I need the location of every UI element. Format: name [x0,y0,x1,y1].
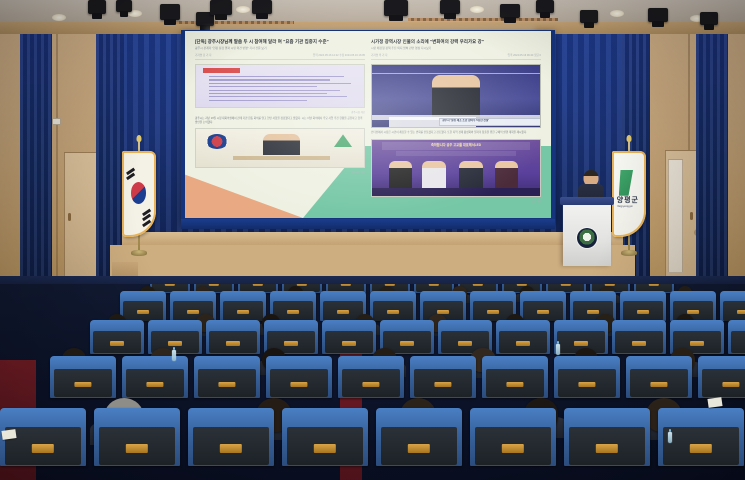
flag-finial [627,135,632,142]
video-top-line [372,73,540,74]
stage-light [88,0,106,14]
korean-flag-icon [206,134,228,149]
seat-number-plate [690,341,704,346]
auditorium-seat[interactable] [410,356,476,398]
seat-number-plate [226,341,240,346]
lectern [563,204,611,266]
award-photo-caption: 뉴스 제공 [371,199,541,203]
city-emblem-icon [577,228,597,248]
stage-light [440,0,460,14]
south-korea-national-flag [118,140,160,252]
auditorium-seat[interactable] [50,356,116,398]
seat-number-plate [400,341,414,346]
downlight [236,6,250,13]
projection-screen: [단독] 광주시장님께 말씀 두 시 참여해 달라 며 "요즘 기관 집중지 수… [185,31,551,218]
seat-number-plate [690,444,712,452]
article-byline: 기자명 김 기 자 [195,53,211,57]
article-body: 광주시는 지난 16일 시청 대회의실에서 관계 기관 합동 회의를 열고 현안… [195,117,365,124]
auditorium-seat[interactable] [338,356,404,398]
auditorium-seat[interactable] [122,356,188,398]
lighting-truss [176,21,294,24]
seat-number-plate [632,341,646,346]
curtain-panel [696,34,728,282]
auditorium-seat[interactable] [564,408,650,466]
seat-number-plate [596,444,618,452]
seat-number-plate [434,382,451,388]
auditorium-seat[interactable] [554,356,620,398]
water-bottle[interactable] [668,432,672,443]
stage-light [116,0,132,12]
water-bottle[interactable] [556,344,560,355]
seat-number-plate [506,382,523,388]
photo-subject [263,134,300,155]
award-subcaption [396,151,517,155]
auditorium-scene: [단독] 광주시장님께 말씀 두 시 참여해 달라 며 "요즘 기관 집중지 수… [0,0,745,480]
curtain-panel [20,34,52,282]
presentation-slide: [단독] 광주시장님께 말씀 두 시 참여해 달라 며 "요즘 기관 집중지 수… [185,31,551,218]
stage-light [160,4,180,20]
flag-fringe [122,151,156,237]
article-subhead: 광주시 관계자 "현장 점검 결과 시민 의견 반영" 기사 전문 보기 [195,47,365,51]
article-meta: 기자명 김 기 자 입력 2024.05.16 14:22 수정 2024.05… [195,53,365,60]
seat-number-plate [284,341,298,346]
auditorium-seat[interactable] [282,408,368,466]
auditorium-seat[interactable] [482,356,548,398]
handout-paper[interactable] [707,397,722,408]
auditorium-seat[interactable] [626,356,692,398]
auditorium-seat[interactable] [376,408,462,466]
seat-number-plate [502,444,524,452]
seat-number-plate [314,444,336,452]
auditorium-seat[interactable] [194,356,260,398]
seat-number-plate [126,444,148,452]
award-stage-floor [372,188,540,196]
seat-number-plate [168,341,182,346]
seat-number-plate [516,341,530,346]
article-video-thumbnail[interactable]: 광주시 '일류 제조 소한 참여우 5강한 전달' [371,64,541,128]
flag-cloth-taegukgi [122,151,156,237]
article-headline: 시가정 광역시장 인물의 소리에 "변화여의 강력 우리가요 강" [371,39,541,45]
auditorium-seat[interactable] [94,408,180,466]
article-meta: 기자명 박 기 자 입력 2024.05.16 09:40 댓글 0 [371,53,541,60]
seat-number-plate [650,382,667,388]
stage-light [536,0,554,13]
seat-number-plate [74,382,91,388]
handout-paper[interactable] [1,429,16,440]
article-photo-thumbnail [195,128,365,168]
org-emblem-icon [334,134,352,147]
seat-number-plate [342,341,356,346]
video-lower-third: 광주시 '일류 제조 소한 참여우 5강한 전달' [439,118,541,126]
seat-number-plate [220,444,242,452]
slide-article-right: 시가정 광역시장 인물의 소리에 "변화여의 강력 우리가요 강" 시민 체감형… [371,39,541,203]
document-tag [203,68,240,73]
seat-number-plate [362,382,379,388]
flag-fringe [612,151,646,237]
seat-number-plate [290,382,307,388]
lighting-truss [408,18,558,21]
seat-number-plate [110,341,124,346]
stage-light [700,12,718,25]
article-timestamp: 입력 2024.05.16 14:22 수정 2024.05.16 16:05 [313,53,365,57]
stage-light [500,4,520,18]
article-subhead: 시민 체감형 정책 추진 의지 밝혀 관련 영상 다시보기 [371,47,541,51]
downlight [470,6,484,13]
audience-seating-area [0,284,745,480]
lectern-top [560,197,614,205]
photo-caption: 광주시청 제공 [195,170,365,174]
downlight [610,10,624,17]
stage-light [210,0,232,15]
flag-base [131,250,147,256]
seat-number-plate [722,382,739,388]
seat-number-plate [458,341,472,346]
document-thumbnail-caption: 광주시청 제공 [195,110,365,114]
stage-back-lip [122,232,623,245]
award-banner-text: 축하합니다 공주 고교를 대표해서LED [382,142,530,149]
auditorium-seat[interactable] [188,408,274,466]
article-headline: [단독] 광주시장님께 말씀 두 시 참여해 달라 며 "요즘 기관 집중지 수… [195,39,365,45]
auditorium-seat[interactable] [470,408,556,466]
seat-number-plate [578,382,595,388]
seat-number-plate [408,444,430,452]
auditorium-seat[interactable] [266,356,332,398]
wall-sign [52,118,61,125]
seat-number-plate [146,382,163,388]
flag-finial [137,135,142,142]
auditorium-seat[interactable] [698,356,745,398]
door[interactable] [64,152,98,284]
photo-desk [233,156,330,160]
seat-row [0,398,745,462]
seat-row [0,348,745,396]
door[interactable] [665,150,697,284]
flag-cloth-organization: 양 평 군 Yangpyeong-gun [612,151,646,237]
article-body: 인터뷰에서 시장은 시민이 체감할 수 있는 변화를 만들겠다고 강조했다. 또… [371,131,541,134]
seat-number-plate [574,341,588,346]
wall-seam-left [56,34,58,284]
article-timestamp: 입력 2024.05.16 09:40 댓글 0 [508,53,541,57]
downlight [52,14,66,21]
stage-light [648,8,668,22]
screen-bottom-bar [181,219,555,229]
article-document-thumbnail [195,64,365,108]
slide-article-left: [단독] 광주시장님께 말씀 두 시 참여해 달라 며 "요즘 기관 집중지 수… [195,39,365,174]
flag-base [621,250,637,256]
article-byline: 기자명 박 기 자 [371,53,387,57]
stage-light [252,0,272,14]
water-bottle[interactable] [172,350,176,361]
seat-number-plate [218,382,235,388]
stage-light [384,0,408,16]
seat-number-plate [32,444,54,452]
institution-flag: 양 평 군 Yangpyeong-gun [608,140,650,252]
door-knob[interactable] [68,213,71,221]
door-knob[interactable] [690,212,693,220]
stage-light [580,10,598,23]
door-notice-panel [668,159,683,273]
article-award-photo: 축하합니다 공주 고교를 대표해서LED [371,139,541,197]
